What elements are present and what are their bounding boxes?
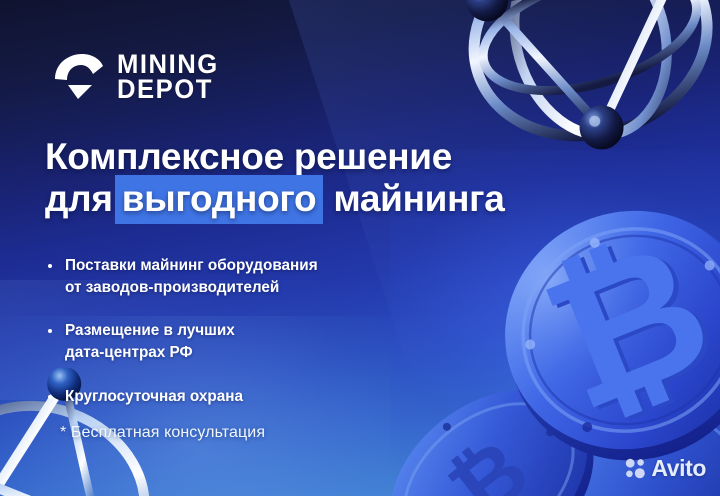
chevron-mark-icon: [52, 52, 104, 102]
avito-watermark: Avito: [625, 455, 706, 482]
logo-text-line2: DEPOT: [117, 77, 219, 102]
avito-dots-icon: [625, 458, 646, 479]
headline-suffix: майнинга: [333, 178, 504, 219]
headline: Комплексное решение длявыгодного майнинг…: [45, 136, 585, 220]
list-item: Поставки майнинг оборудования от заводов…: [44, 255, 414, 298]
bullet-line-2: от заводов-производителей: [65, 277, 414, 299]
promo-banner: ₿: [0, 0, 720, 496]
list-item: Круглосуточная охрана: [44, 386, 414, 408]
svg-text:₿: ₿: [432, 422, 546, 496]
svg-text:₿: ₿: [520, 201, 720, 448]
headline-line-1: Комплексное решение: [45, 136, 585, 178]
bullet-line-1: Круглосуточная охрана: [65, 388, 243, 405]
brand-logo[interactable]: MINING DEPOT: [52, 52, 224, 103]
feature-list: Поставки майнинг оборудования от заводов…: [44, 255, 414, 408]
bullet-line-2: дата-центрах РФ: [65, 342, 414, 364]
avito-wordmark: Avito: [651, 455, 706, 482]
headline-prefix: для: [45, 178, 113, 219]
headline-highlight: выгодного: [115, 175, 324, 224]
bullet-line-1: Размещение в лучших: [65, 322, 235, 339]
bullet-line-1: Поставки майнинг оборудования: [65, 257, 318, 274]
list-item: Размещение в лучших дата-центрах РФ: [44, 320, 414, 363]
headline-line-2: длявыгодного майнинга: [45, 178, 585, 220]
footnote: * Бесплатная консультация: [60, 424, 265, 442]
svg-text:₿: ₿: [525, 203, 720, 450]
